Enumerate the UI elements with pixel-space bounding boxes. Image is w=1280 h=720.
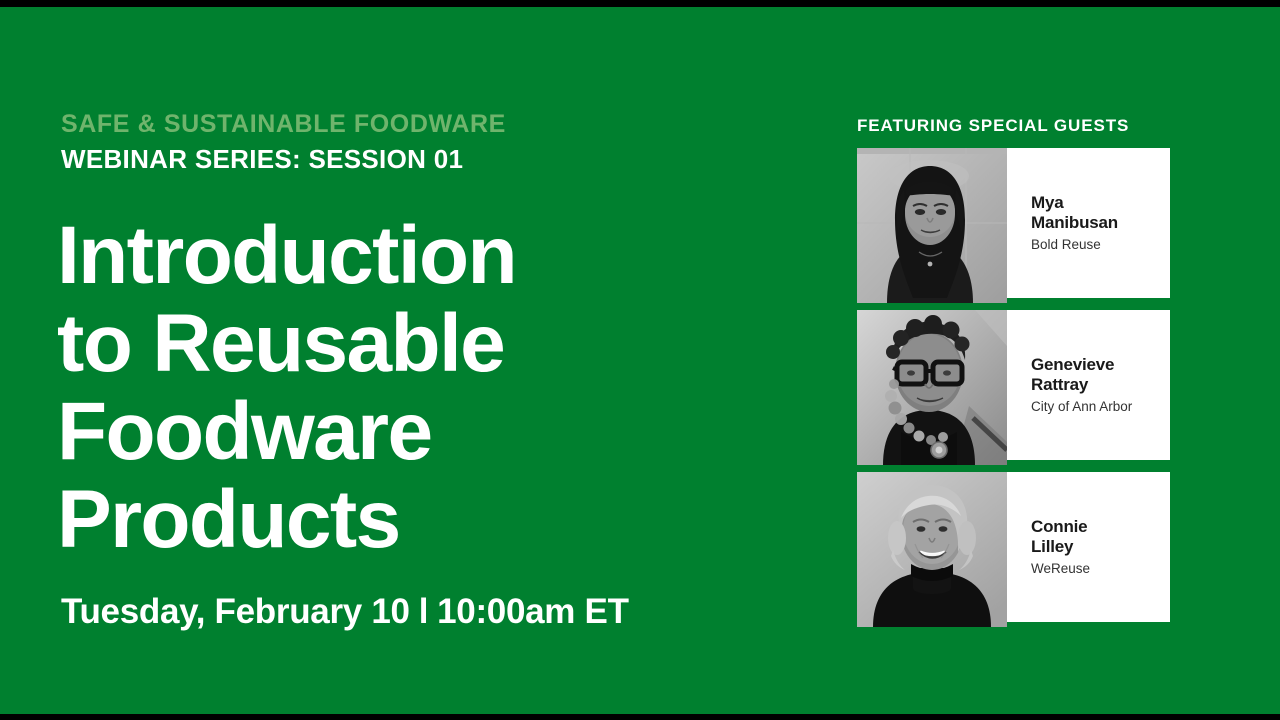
guest-name-line-2: Manibusan	[1031, 213, 1118, 232]
page-title: Introduction to Reusable Foodware Produc…	[57, 212, 837, 564]
guest-name-line-2: Lilley	[1031, 537, 1073, 556]
headline-line-2: to Reusable	[57, 300, 837, 388]
guest-card-text: Genevieve Rattray City of Ann Arbor	[1031, 310, 1170, 460]
guest-card-text: Connie Lilley WeReuse	[1031, 472, 1170, 622]
portrait-connie-lilley-icon	[857, 472, 1007, 627]
event-datetime: Tuesday, February 10l10:00am ET	[61, 592, 629, 632]
webinar-promo-slide: SAFE & SUSTAINABLE FOODWARE WEBINAR SERI…	[0, 0, 1280, 720]
headline-line-4: Products	[57, 476, 837, 564]
guest-name-line-1: Mya	[1031, 193, 1063, 212]
headline-line-1: Introduction	[57, 212, 837, 300]
guests-panel-title: FEATURING SPECIAL GUESTS	[857, 116, 1129, 136]
eyebrow-session-label: WEBINAR SERIES: SESSION 01	[61, 144, 463, 175]
guest-name-line-1: Connie	[1031, 517, 1087, 536]
guest-organization: City of Ann Arbor	[1031, 399, 1170, 415]
guests-column: FEATURING SPECIAL GUESTS	[857, 7, 1170, 714]
slide-stage: SAFE & SUSTAINABLE FOODWARE WEBINAR SERI…	[0, 7, 1280, 714]
guest-name: Genevieve Rattray	[1031, 355, 1170, 395]
event-date: Tuesday, February 10	[61, 592, 410, 631]
guest-organization: WeReuse	[1031, 561, 1170, 577]
guest-name: Connie Lilley	[1031, 517, 1170, 557]
letterbox-bar-top	[0, 0, 1280, 7]
portrait-genevieve-rattray-icon	[857, 310, 1007, 465]
guest-card-text: Mya Manibusan Bold Reuse	[1031, 148, 1170, 298]
guest-card: Connie Lilley WeReuse	[857, 472, 1170, 622]
event-time: 10:00am ET	[437, 592, 629, 631]
guest-card: Mya Manibusan Bold Reuse	[857, 148, 1170, 298]
guest-name-line-2: Rattray	[1031, 375, 1088, 394]
guest-name: Mya Manibusan	[1031, 193, 1170, 233]
eyebrow-series-label: SAFE & SUSTAINABLE FOODWARE	[61, 110, 506, 139]
guest-name-line-1: Genevieve	[1031, 355, 1114, 374]
letterbox-bar-bottom	[0, 714, 1280, 720]
guest-organization: Bold Reuse	[1031, 237, 1170, 253]
title-column: SAFE & SUSTAINABLE FOODWARE WEBINAR SERI…	[61, 7, 821, 714]
headline-line-3: Foodware	[57, 388, 837, 476]
guest-card: Genevieve Rattray City of Ann Arbor	[857, 310, 1170, 460]
portrait-mya-manibusan-icon	[857, 148, 1007, 303]
datetime-separator: l	[410, 592, 437, 631]
